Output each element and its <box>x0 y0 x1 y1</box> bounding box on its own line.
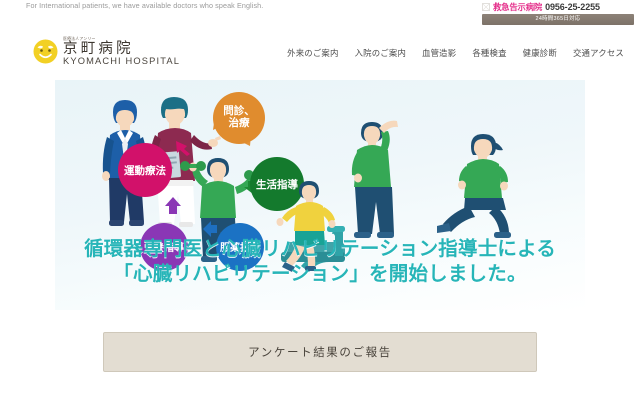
emergency-phone-number[interactable]: 0956-25-2255 <box>545 2 600 12</box>
hero-heading: 循環器専門医と心臓リハビリテーション指導士による 「心臓リハビリテーション」を開… <box>55 237 585 286</box>
nav-item-inpatient[interactable]: 入院のご案内 <box>355 47 406 59</box>
survey-results-button-label: アンケート結果のご報告 <box>248 344 392 360</box>
hero-heading-line-1: 循環器専門医と心臓リハビリテーション指導士による <box>55 237 585 262</box>
nav-item-examinations[interactable]: 各種検査 <box>472 47 506 59</box>
figure-patient-stretching <box>352 121 398 238</box>
emergency-hours-badge: 24時間365日対応 <box>482 14 634 25</box>
site-logo[interactable]: 医療法人アンリー 京町病院 KYOMACHI HOSPITAL <box>33 37 180 67</box>
emergency-contact-block: 救急告示病院 0956-25-2255 24時間365日対応 <box>480 0 636 25</box>
emergency-contact-line: 救急告示病院 0956-25-2255 <box>480 0 636 13</box>
logo-name-english: KYOMACHI HOSPITAL <box>63 57 180 66</box>
hero-banner[interactable]: 問診、 治療 生活指導 服薬指導 栄養指導 運動療法 <box>55 80 585 310</box>
logo-jp-row: 京町病院 <box>63 42 180 57</box>
figure-patient-lunging <box>437 134 511 238</box>
smiling-face-logo-icon <box>33 39 58 64</box>
hero-heading-line-2: 「心臓リハビリテーション」を開始しました。 <box>55 262 585 287</box>
primary-navigation: 外来のご案内 入院のご案内 血管造影 各種検査 健康診断 交通アクセス <box>287 47 624 59</box>
nav-item-angiography[interactable]: 血管造影 <box>422 47 456 59</box>
nav-item-access[interactable]: 交通アクセス <box>573 47 624 59</box>
page-root: For International patients, we have avai… <box>0 0 640 400</box>
logo-text-block: 医療法人アンリー 京町病院 KYOMACHI HOSPITAL <box>63 37 180 67</box>
emergency-hospital-label: 救急告示病院 <box>493 1 542 13</box>
survey-results-button[interactable]: アンケート結果のご報告 <box>103 332 537 372</box>
svg-text:生活指導: 生活指導 <box>256 178 298 191</box>
site-header: 医療法人アンリー 京町病院 KYOMACHI HOSPITAL 外来のご案内 入… <box>0 28 640 75</box>
utility-bar: For International patients, we have avai… <box>0 0 640 28</box>
svg-text:治療: 治療 <box>229 116 250 129</box>
international-patients-notice: For International patients, we have avai… <box>26 1 263 10</box>
nav-item-outpatient[interactable]: 外来のご案内 <box>287 47 338 59</box>
svg-text:運動療法: 運動療法 <box>124 164 166 177</box>
logo-name-japanese: 京町病院 <box>63 42 134 57</box>
nav-item-health-checkup[interactable]: 健康診断 <box>523 47 557 59</box>
emergency-cross-icon <box>482 3 490 11</box>
svg-text:問診、: 問診、 <box>223 104 255 117</box>
